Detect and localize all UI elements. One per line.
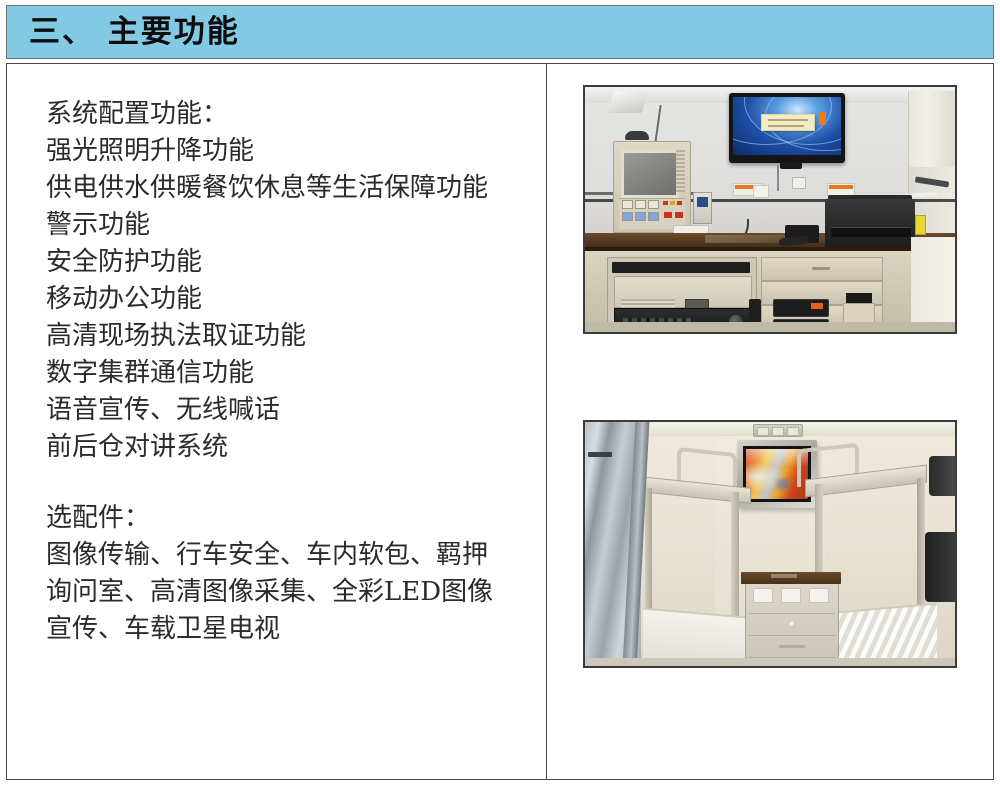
system-feature-item: 供电供水供暖餐饮休息等生活保障功能 bbox=[46, 170, 538, 207]
optional-accessories-line: 宣传、车载卫星电视 bbox=[46, 611, 538, 648]
system-feature-item: 前后仓对讲系统 bbox=[46, 429, 538, 466]
system-feature-item: 强光照明升降功能 bbox=[46, 133, 538, 170]
ceiling-light-icon bbox=[753, 424, 803, 437]
optional-accessories-line: 图像传输、行车安全、车内软包、羁押 bbox=[46, 537, 538, 574]
column-divider bbox=[546, 63, 547, 780]
printer-icon bbox=[825, 199, 915, 247]
system-feature-item: 警示功能 bbox=[46, 207, 538, 244]
optional-accessories-line: 询问室、高清图像采集、全彩LED图像 bbox=[46, 574, 538, 611]
optional-section-heading: 选配件： bbox=[46, 500, 538, 537]
system-feature-item: 高清现场执法取证功能 bbox=[46, 318, 538, 355]
rest-compartment-photo bbox=[583, 420, 957, 668]
section-spacer bbox=[46, 466, 538, 500]
console-monitor-icon bbox=[613, 141, 691, 233]
system-feature-item: 数字集群通信功能 bbox=[46, 355, 538, 392]
command-console-photo: ●● bbox=[583, 85, 957, 334]
features-text-column: 系统配置功能： 强光照明升降功能 供电供水供暖餐饮休息等生活保障功能 警示功能 … bbox=[46, 96, 538, 648]
slide-header: 三、 主要功能 bbox=[6, 5, 994, 59]
slide: 三、 主要功能 系统配置功能： 强光照明升降功能 供电供水供暖餐饮休息等生活保障… bbox=[0, 0, 1000, 786]
page-title: 三、 主要功能 bbox=[7, 17, 240, 48]
wall-mounted-tv-icon bbox=[729, 93, 845, 163]
system-feature-item: 移动办公功能 bbox=[46, 281, 538, 318]
system-feature-item: 安全防护功能 bbox=[46, 244, 538, 281]
system-section-heading: 系统配置功能： bbox=[46, 96, 538, 133]
system-feature-item: 语音宣传、无线喊话 bbox=[46, 392, 538, 429]
